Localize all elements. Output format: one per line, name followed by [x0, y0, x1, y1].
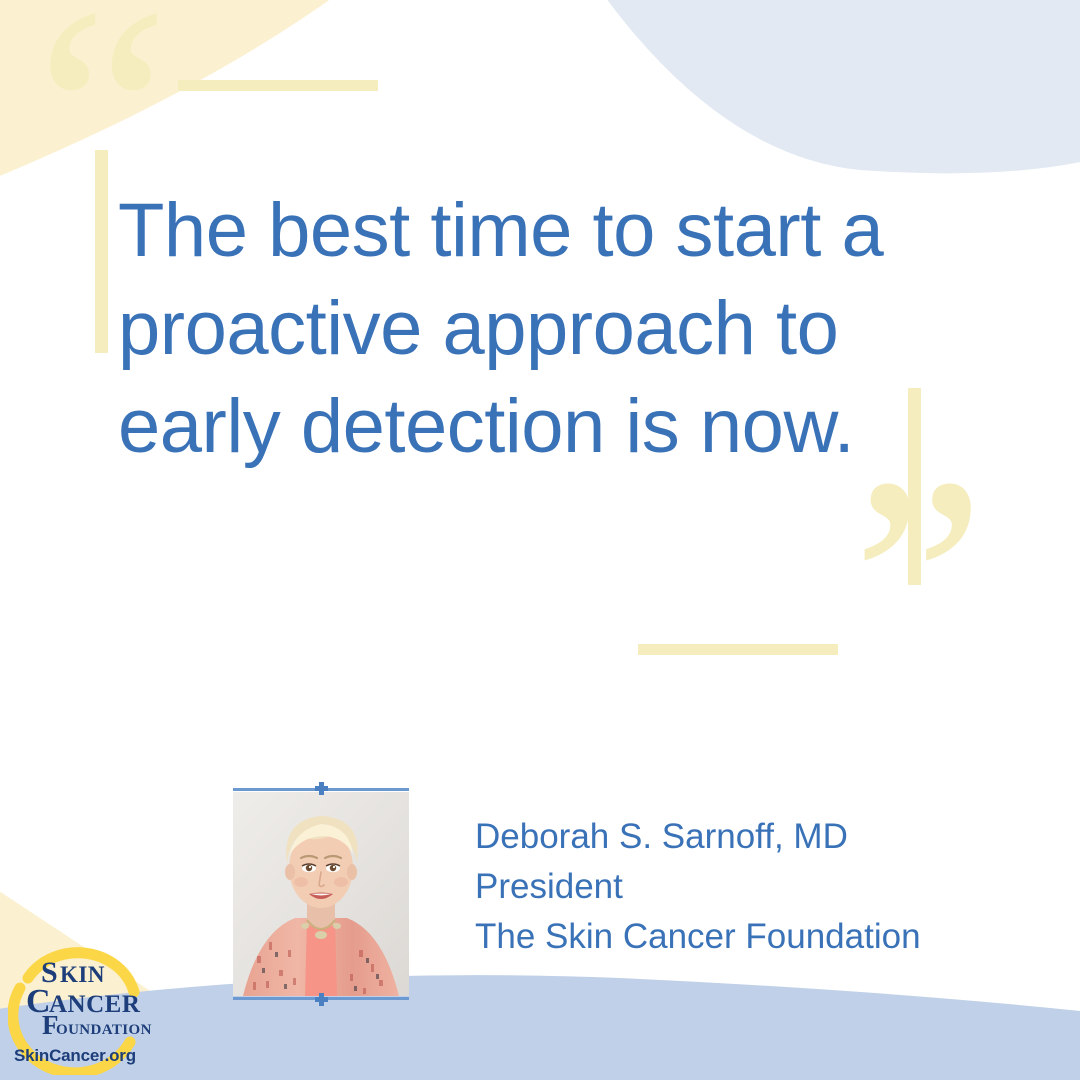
logo-line2-rest: ANCER	[49, 991, 141, 1018]
accent-rule-top-dash	[178, 80, 378, 91]
attribution-block: Deborah S. Sarnoff, MD President The Ski…	[475, 812, 921, 962]
portrait-selection-frame	[233, 788, 409, 1000]
logo-line3-rest: OUNDATION	[56, 1022, 152, 1038]
attribution-name: Deborah S. Sarnoff, MD	[475, 812, 921, 862]
quote-text: The best time to start a proactive appro…	[118, 182, 938, 476]
quote-card: “ ” The best time to start a proactive a…	[0, 0, 1080, 1080]
attribution-organization: The Skin Cancer Foundation	[475, 912, 921, 962]
top-right-blue-wave	[600, 0, 1080, 173]
attribution-title: President	[475, 862, 921, 912]
selection-handle-bottom[interactable]	[315, 993, 328, 1006]
portrait-image[interactable]	[233, 788, 409, 1000]
logo-line1-rest: KIN	[60, 962, 105, 987]
bottom-blue-wave	[0, 975, 1080, 1080]
selection-handle-top[interactable]	[315, 782, 328, 795]
accent-rule-bottom-dash	[638, 644, 838, 655]
close-quote-icon: ”	[852, 432, 985, 732]
logo-url: SkinCancer.org	[14, 1046, 136, 1066]
